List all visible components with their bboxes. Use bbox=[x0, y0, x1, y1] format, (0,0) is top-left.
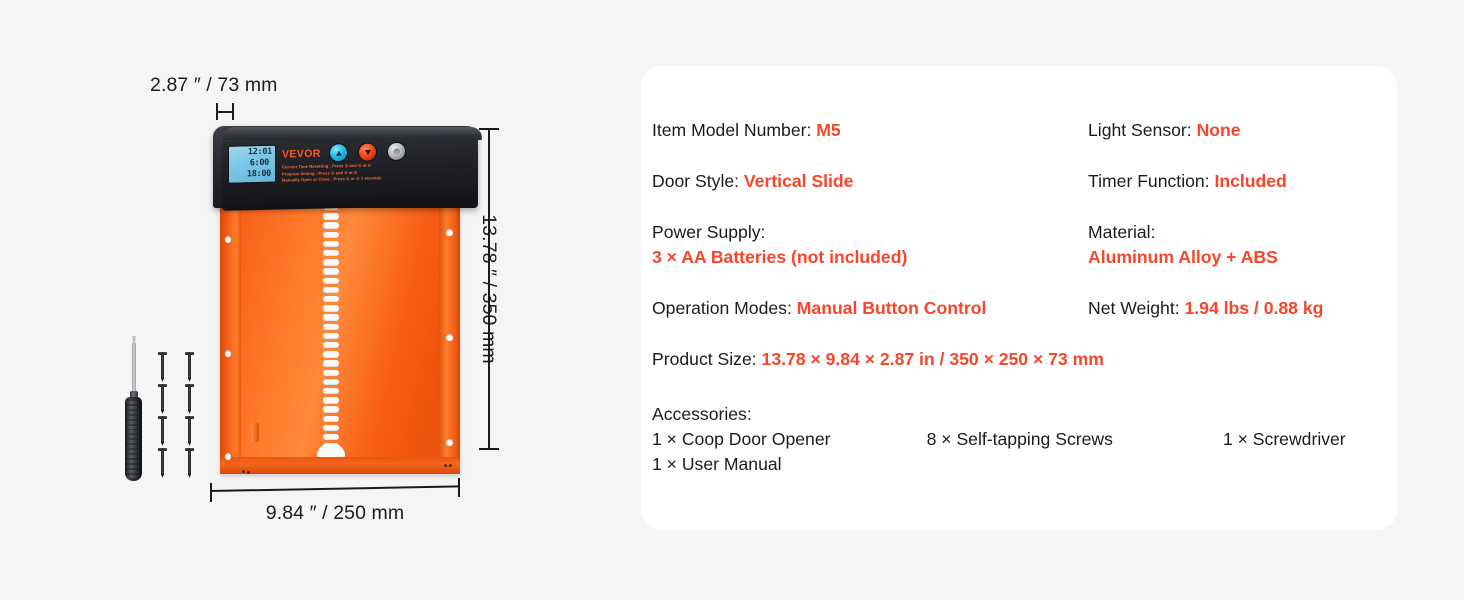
screws-illustration bbox=[158, 352, 206, 478]
spec-value: 3 × AA Batteries (not included) bbox=[652, 245, 1088, 270]
triangle-down-icon bbox=[365, 150, 371, 155]
screw-point bbox=[188, 474, 191, 478]
mounting-hole bbox=[225, 350, 232, 357]
rack-slot bbox=[323, 259, 339, 265]
handle-grip-ridge bbox=[126, 430, 141, 433]
door-rack-slots bbox=[323, 204, 339, 452]
specification-card: Item Model Number: M5 Light Sensor: None… bbox=[641, 66, 1397, 530]
rack-slot bbox=[323, 397, 339, 403]
depth-dimension-label: 2.87 ″ / 73 mm bbox=[150, 74, 278, 97]
screw bbox=[185, 416, 194, 446]
spec-value: 1.94 lbs / 0.88 kg bbox=[1184, 298, 1323, 318]
screw-point bbox=[188, 410, 191, 414]
rack-slot bbox=[323, 296, 339, 302]
screw bbox=[158, 448, 167, 478]
rack-slot bbox=[323, 213, 339, 219]
screw-shank bbox=[188, 387, 191, 411]
specification-list: Item Model Number: M5 Light Sensor: None… bbox=[652, 118, 1381, 477]
panel-instructions: Current Time Resetting : Press ⊙ and ⊙ a… bbox=[282, 160, 468, 184]
handle-grip-ridge bbox=[126, 445, 141, 448]
spec-key: Material: bbox=[1088, 220, 1388, 245]
rack-slot bbox=[323, 351, 339, 357]
handle-grip-ridge bbox=[126, 450, 141, 453]
screw-shank bbox=[161, 387, 164, 411]
screw bbox=[158, 384, 167, 414]
rack-slot bbox=[323, 416, 339, 422]
handle-grip-ridge bbox=[126, 470, 141, 473]
spec-value: None bbox=[1197, 120, 1241, 140]
triangle-up-icon bbox=[336, 150, 342, 155]
rack-slot bbox=[323, 250, 339, 256]
screw bbox=[185, 448, 194, 478]
rack-slot bbox=[323, 232, 339, 238]
rack-slot bbox=[323, 241, 339, 247]
accessory-item: 1 × Coop Door Opener bbox=[652, 427, 927, 452]
screw bbox=[158, 352, 167, 382]
lcd-display: 12:01 6:00 18:00 bbox=[228, 145, 276, 184]
mounting-hole bbox=[225, 236, 232, 243]
screw-shank bbox=[188, 451, 191, 475]
rack-slot bbox=[323, 222, 339, 228]
spec-key: Light Sensor: bbox=[1088, 120, 1197, 140]
down-button[interactable] bbox=[358, 142, 377, 161]
spec-light-sensor: Light Sensor: None bbox=[1088, 118, 1388, 143]
coop-door-opener-device: 12:01 6:00 18:00 VEVOR Current Time Rese… bbox=[206, 126, 478, 476]
handle-grip-ridge bbox=[126, 416, 141, 419]
rack-slot bbox=[323, 268, 339, 274]
handle-grip-ridge bbox=[126, 440, 141, 443]
spec-key: Door Style: bbox=[652, 171, 744, 191]
rack-slot bbox=[323, 342, 339, 348]
handle-grip-ridge bbox=[126, 455, 141, 458]
spec-row: Item Model Number: M5 Light Sensor: None bbox=[652, 118, 1381, 143]
width-dimension-label: 9.84 ″ / 250 mm bbox=[210, 502, 460, 525]
screw bbox=[185, 384, 194, 414]
spec-operation-modes: Operation Modes: Manual Button Control bbox=[652, 296, 1088, 321]
control-panel-face: 12:01 6:00 18:00 VEVOR Current Time Rese… bbox=[222, 135, 476, 189]
control-housing: 12:01 6:00 18:00 VEVOR Current Time Rese… bbox=[213, 126, 478, 208]
screw-dot bbox=[444, 464, 447, 467]
rack-slot bbox=[323, 278, 339, 284]
handle-grip-ridge bbox=[126, 411, 141, 414]
accessory-item: 1 × Screwdriver bbox=[1223, 427, 1381, 452]
rack-slot bbox=[323, 324, 339, 330]
spec-row: Power Supply:3 × AA Batteries (not inclu… bbox=[652, 220, 1381, 270]
width-dimension-line bbox=[210, 482, 460, 500]
handle-grip-ridge bbox=[126, 401, 141, 404]
spec-door-style: Door Style: Vertical Slide bbox=[652, 169, 1088, 194]
rack-slot bbox=[323, 379, 339, 385]
spec-key: Product Size: bbox=[652, 349, 762, 369]
accessories-title: Accessories: bbox=[652, 402, 1381, 427]
spec-key: Power Supply: bbox=[652, 220, 1088, 245]
spec-power-supply: Power Supply:3 × AA Batteries (not inclu… bbox=[652, 220, 1088, 270]
accessories-column: 1 × Coop Door Opener 1 × User Manual bbox=[652, 427, 927, 477]
screwdriver-handle bbox=[125, 397, 142, 481]
screw-shank bbox=[188, 355, 191, 379]
spec-net-weight: Net Weight: 1.94 lbs / 0.88 kg bbox=[1088, 296, 1388, 321]
rack-slot bbox=[323, 314, 339, 320]
screw-shank bbox=[161, 451, 164, 475]
set-button[interactable] bbox=[387, 142, 406, 161]
screw bbox=[158, 416, 167, 446]
screw-point bbox=[161, 410, 164, 414]
handle-grip-ridge bbox=[126, 475, 141, 478]
rack-slot bbox=[323, 434, 339, 440]
mounting-hole bbox=[446, 439, 453, 446]
spec-value: Vertical Slide bbox=[744, 171, 854, 191]
spec-product-size: Product Size: 13.78 × 9.84 × 2.87 in / 3… bbox=[652, 347, 1388, 372]
screw-shank bbox=[161, 355, 164, 379]
circle-icon bbox=[393, 148, 400, 155]
rack-slot bbox=[323, 406, 339, 412]
up-button[interactable] bbox=[329, 143, 348, 162]
spec-key: Timer Function: bbox=[1088, 171, 1214, 191]
bottom-sill bbox=[220, 457, 460, 474]
rack-slot bbox=[323, 333, 339, 339]
screw-point bbox=[188, 378, 191, 382]
product-illustration-panel: 2.87 ″ / 73 mm 13.78 ″ / 350 mm 9.84 ″ /… bbox=[0, 0, 600, 600]
spec-value: Manual Button Control bbox=[797, 298, 987, 318]
spec-value: 13.78 × 9.84 × 2.87 in / 350 × 250 × 73 … bbox=[762, 349, 1104, 369]
screw bbox=[185, 352, 194, 382]
accessory-item: 1 × User Manual bbox=[652, 452, 927, 477]
handle-grip-ridge bbox=[126, 421, 141, 424]
screw-point bbox=[161, 442, 164, 446]
rack-slot bbox=[323, 388, 339, 394]
screw-point bbox=[161, 474, 164, 478]
screwdriver-illustration bbox=[124, 336, 144, 481]
spec-timer-function: Timer Function: Included bbox=[1088, 169, 1388, 194]
spec-value: Aluminum Alloy + ABS bbox=[1088, 245, 1388, 270]
door-latch-tab bbox=[251, 423, 259, 442]
sliding-door-face bbox=[241, 196, 439, 458]
rack-slot bbox=[323, 360, 339, 366]
handle-grip-ridge bbox=[126, 406, 141, 409]
mounting-hole bbox=[446, 334, 453, 341]
screw-shank bbox=[161, 419, 164, 443]
spec-row: Product Size: 13.78 × 9.84 × 2.87 in / 3… bbox=[652, 347, 1381, 372]
spec-key: Net Weight: bbox=[1088, 298, 1184, 318]
spec-row: Door Style: Vertical Slide Timer Functio… bbox=[652, 169, 1381, 194]
mounting-hole bbox=[446, 229, 453, 236]
height-dimension-label: 13.78 ″ / 350 mm bbox=[476, 128, 502, 450]
rack-slot bbox=[323, 287, 339, 293]
screwdriver-shaft bbox=[132, 343, 136, 395]
spec-key: Item Model Number: bbox=[652, 120, 816, 140]
mounting-hole bbox=[225, 453, 232, 460]
spec-material: Material:Aluminum Alloy + ABS bbox=[1088, 220, 1388, 270]
rack-slot bbox=[323, 425, 339, 431]
height-dimension-line: 13.78 ″ / 350 mm bbox=[478, 128, 538, 450]
rack-slot bbox=[323, 305, 339, 311]
accessories-block: Accessories: 1 × Coop Door Opener 1 × Us… bbox=[652, 402, 1381, 477]
screw-point bbox=[188, 442, 191, 446]
vevor-brand-logo: VEVOR bbox=[282, 148, 321, 161]
screw-dot bbox=[247, 471, 250, 474]
screw-dot bbox=[242, 470, 245, 473]
screw-dot bbox=[449, 464, 452, 467]
spec-key: Operation Modes: bbox=[652, 298, 797, 318]
handle-grip-ridge bbox=[126, 435, 141, 438]
spec-row: Operation Modes: Manual Button Control N… bbox=[652, 296, 1381, 321]
accessories-grid: 1 × Coop Door Opener 1 × User Manual 8 ×… bbox=[652, 427, 1381, 477]
accessories-column: 8 × Self-tapping Screws bbox=[927, 427, 1223, 477]
spec-item-model-number: Item Model Number: M5 bbox=[652, 118, 1088, 143]
accessories-column: 1 × Screwdriver bbox=[1223, 427, 1381, 477]
spec-value: M5 bbox=[816, 120, 840, 140]
handle-grip-ridge bbox=[126, 465, 141, 468]
rack-arrow-icon bbox=[317, 444, 345, 457]
screw-point bbox=[161, 378, 164, 382]
handle-grip-ridge bbox=[126, 460, 141, 463]
depth-dimension-bracket bbox=[216, 103, 234, 120]
screw-shank bbox=[188, 419, 191, 443]
spec-value: Included bbox=[1214, 171, 1286, 191]
rack-slot bbox=[323, 370, 339, 376]
accessory-item: 8 × Self-tapping Screws bbox=[927, 427, 1223, 452]
lcd-close-time: 18:00 bbox=[231, 169, 273, 181]
handle-grip-ridge bbox=[126, 426, 141, 429]
